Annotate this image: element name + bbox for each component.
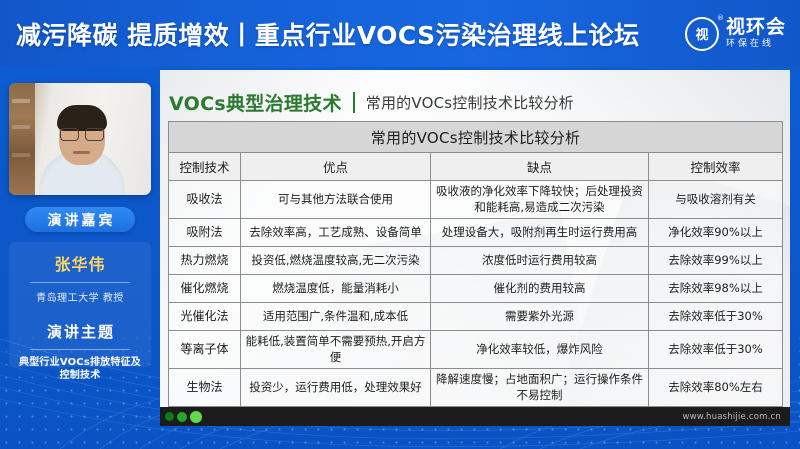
status-dot-3: [190, 411, 202, 423]
cell-pros: 可与其他方法联合使用: [241, 181, 431, 219]
speaker-sidebar: 演讲嘉宾 张华伟 青岛理工大学 教授 演讲主题 典型行业VOCs排放特征及控制技…: [0, 67, 160, 449]
cell-efficiency: 去除效率80%左右: [649, 369, 783, 407]
column-header-tech: 控制技术: [169, 153, 241, 181]
logo-circle-icon: 视 ®: [685, 17, 719, 51]
video-shelf-decoration: [9, 83, 35, 195]
cell-tech: 吸收法: [169, 181, 241, 219]
cell-cons: 降解速度慢；占地面积广；运行操作条件不易控制: [431, 369, 649, 407]
comparison-table: 常用的VOCs控制技术比较分析 控制技术 优点 缺点 控制效率 吸收法 可与其他…: [168, 121, 783, 407]
cell-cons: 处理设备大，吸附剂再生时运行费用高: [431, 219, 649, 247]
presentation-slide[interactable]: VOCs典型治理技术 常用的VOCs控制技术比较分析 常用的VOCs控制技术比较…: [160, 70, 790, 407]
status-dot-1: [165, 412, 174, 421]
logo-name: 视环会: [726, 18, 786, 37]
cell-efficiency: 净化效率90%以上: [649, 219, 783, 247]
status-dot-2: [177, 412, 187, 422]
cell-cons: 净化效率较低，爆炸风险: [431, 331, 649, 369]
cell-pros: 去除效率高，工艺成熟、设备简单: [241, 219, 431, 247]
speaker-mouth: [73, 151, 90, 154]
cell-cons: 需要紫外光源: [431, 303, 649, 331]
cell-tech: 等离子体: [169, 331, 241, 369]
speaker-glasses-icon: [60, 128, 104, 139]
topic-text: 典型行业VOCs排放特征及控制技术: [17, 356, 143, 382]
cell-cons: 吸收液的净化效率下降较快；后处理投资和能耗高,易造成二次污染: [431, 181, 649, 219]
cell-tech: 热力燃烧: [169, 247, 241, 275]
cell-efficiency: 去除效率低于30%: [649, 303, 783, 331]
logo-mark-glyph: 视: [695, 24, 708, 43]
logo-subtitle: 环保在线: [726, 40, 786, 49]
column-header-pros: 优点: [241, 153, 431, 181]
cell-pros: 能耗低,装置简单不需要预热,开启方便: [241, 331, 431, 369]
event-title: 减污降碳 提质增效丨重点行业VOCS污染治理线上论坛: [16, 16, 640, 52]
divider-rule-topic: [30, 349, 130, 350]
cell-tech: 光催化法: [169, 303, 241, 331]
cell-pros: 适用范围广,条件温和,成本低: [241, 303, 431, 331]
brand-logo: 视 ® 视环会 环保在线: [685, 17, 786, 51]
cell-efficiency: 去除效率99%以上: [649, 247, 783, 275]
cell-cons: 催化剂的费用较高: [431, 275, 649, 303]
loading-status-indicator-icon: [165, 411, 202, 423]
cell-pros: 投资少，运行费用低，处理效果好: [241, 369, 431, 407]
slide-title-main: VOCs典型治理技术: [169, 89, 342, 116]
table-row: 等离子体 能耗低,装置简单不需要预热,开启方便 净化效率较低，爆炸风险 去除效率…: [169, 331, 783, 369]
table-caption: 常用的VOCs控制技术比较分析: [169, 122, 783, 153]
column-header-cons: 缺点: [431, 153, 649, 181]
table-row: 生物法 投资少，运行费用低，处理效果好 降解速度慢；占地面积广；运行操作条件不易…: [169, 369, 783, 407]
cell-pros: 燃烧温度低，能量消耗小: [241, 275, 431, 303]
cell-tech: 生物法: [169, 369, 241, 407]
slide-title: VOCs典型治理技术 常用的VOCs控制技术比较分析: [169, 89, 574, 116]
table-row: 吸附法 去除效率高，工艺成熟、设备简单 处理设备大，吸附剂再生时运行费用高 净化…: [169, 219, 783, 247]
topic-label: 演讲主题: [17, 321, 143, 342]
cell-efficiency: 去除效率98%以上: [649, 275, 783, 303]
guest-badge: 演讲嘉宾: [25, 207, 135, 232]
table-row: 催化燃烧 燃烧温度低，能量消耗小 催化剂的费用较高 去除效率98%以上: [169, 275, 783, 303]
registered-trademark-icon: ®: [717, 14, 724, 22]
event-header-banner: 减污降碳 提质增效丨重点行业VOCS污染治理线上论坛 视 ® 视环会 环保在线: [0, 0, 800, 67]
table-caption-row: 常用的VOCs控制技术比较分析: [169, 122, 783, 153]
table-row: 光催化法 适用范围广,条件温和,成本低 需要紫外光源 去除效率低于30%: [169, 303, 783, 331]
table-header-row: 控制技术 优点 缺点 控制效率: [169, 153, 783, 181]
cell-tech: 吸附法: [169, 219, 241, 247]
speaker-name: 张华伟: [17, 251, 143, 275]
cell-pros: 投资低,燃烧温度较高,无二次污染: [241, 247, 431, 275]
table-row: 吸收法 可与其他方法联合使用 吸收液的净化效率下降较快；后处理投资和能耗高,易造…: [169, 181, 783, 219]
slide-title-divider: [353, 92, 355, 113]
table-row: 热力燃烧 投资低,燃烧温度较高,无二次污染 浓度低时运行费用较高 去除效率99%…: [169, 247, 783, 275]
speaker-video-thumbnail[interactable]: [9, 83, 151, 195]
divider-rule-name: [30, 282, 130, 283]
slide-title-subtitle: 常用的VOCs控制技术比较分析: [366, 92, 574, 113]
speaker-affiliation: 青岛理工大学 教授: [17, 289, 143, 304]
page-background: 减污降碳 提质增效丨重点行业VOCS污染治理线上论坛 视 ® 视环会 环保在线 …: [0, 0, 800, 449]
cell-efficiency: 与吸收溶剂有关: [649, 181, 783, 219]
cell-cons: 浓度低时运行费用较高: [431, 247, 649, 275]
cell-tech: 催化燃烧: [169, 275, 241, 303]
logo-wordmark: 视环会 环保在线: [726, 18, 786, 49]
player-bottom-bar[interactable]: www.huashijie.com.cn: [160, 407, 790, 426]
column-header-efficiency: 控制效率: [649, 153, 783, 181]
cell-efficiency: 去除效率低于30%: [649, 331, 783, 369]
speaker-info-card: 张华伟 青岛理工大学 教授 演讲主题 典型行业VOCs排放特征及控制技术: [9, 242, 151, 367]
site-url: www.huashijie.com.cn: [682, 412, 781, 422]
